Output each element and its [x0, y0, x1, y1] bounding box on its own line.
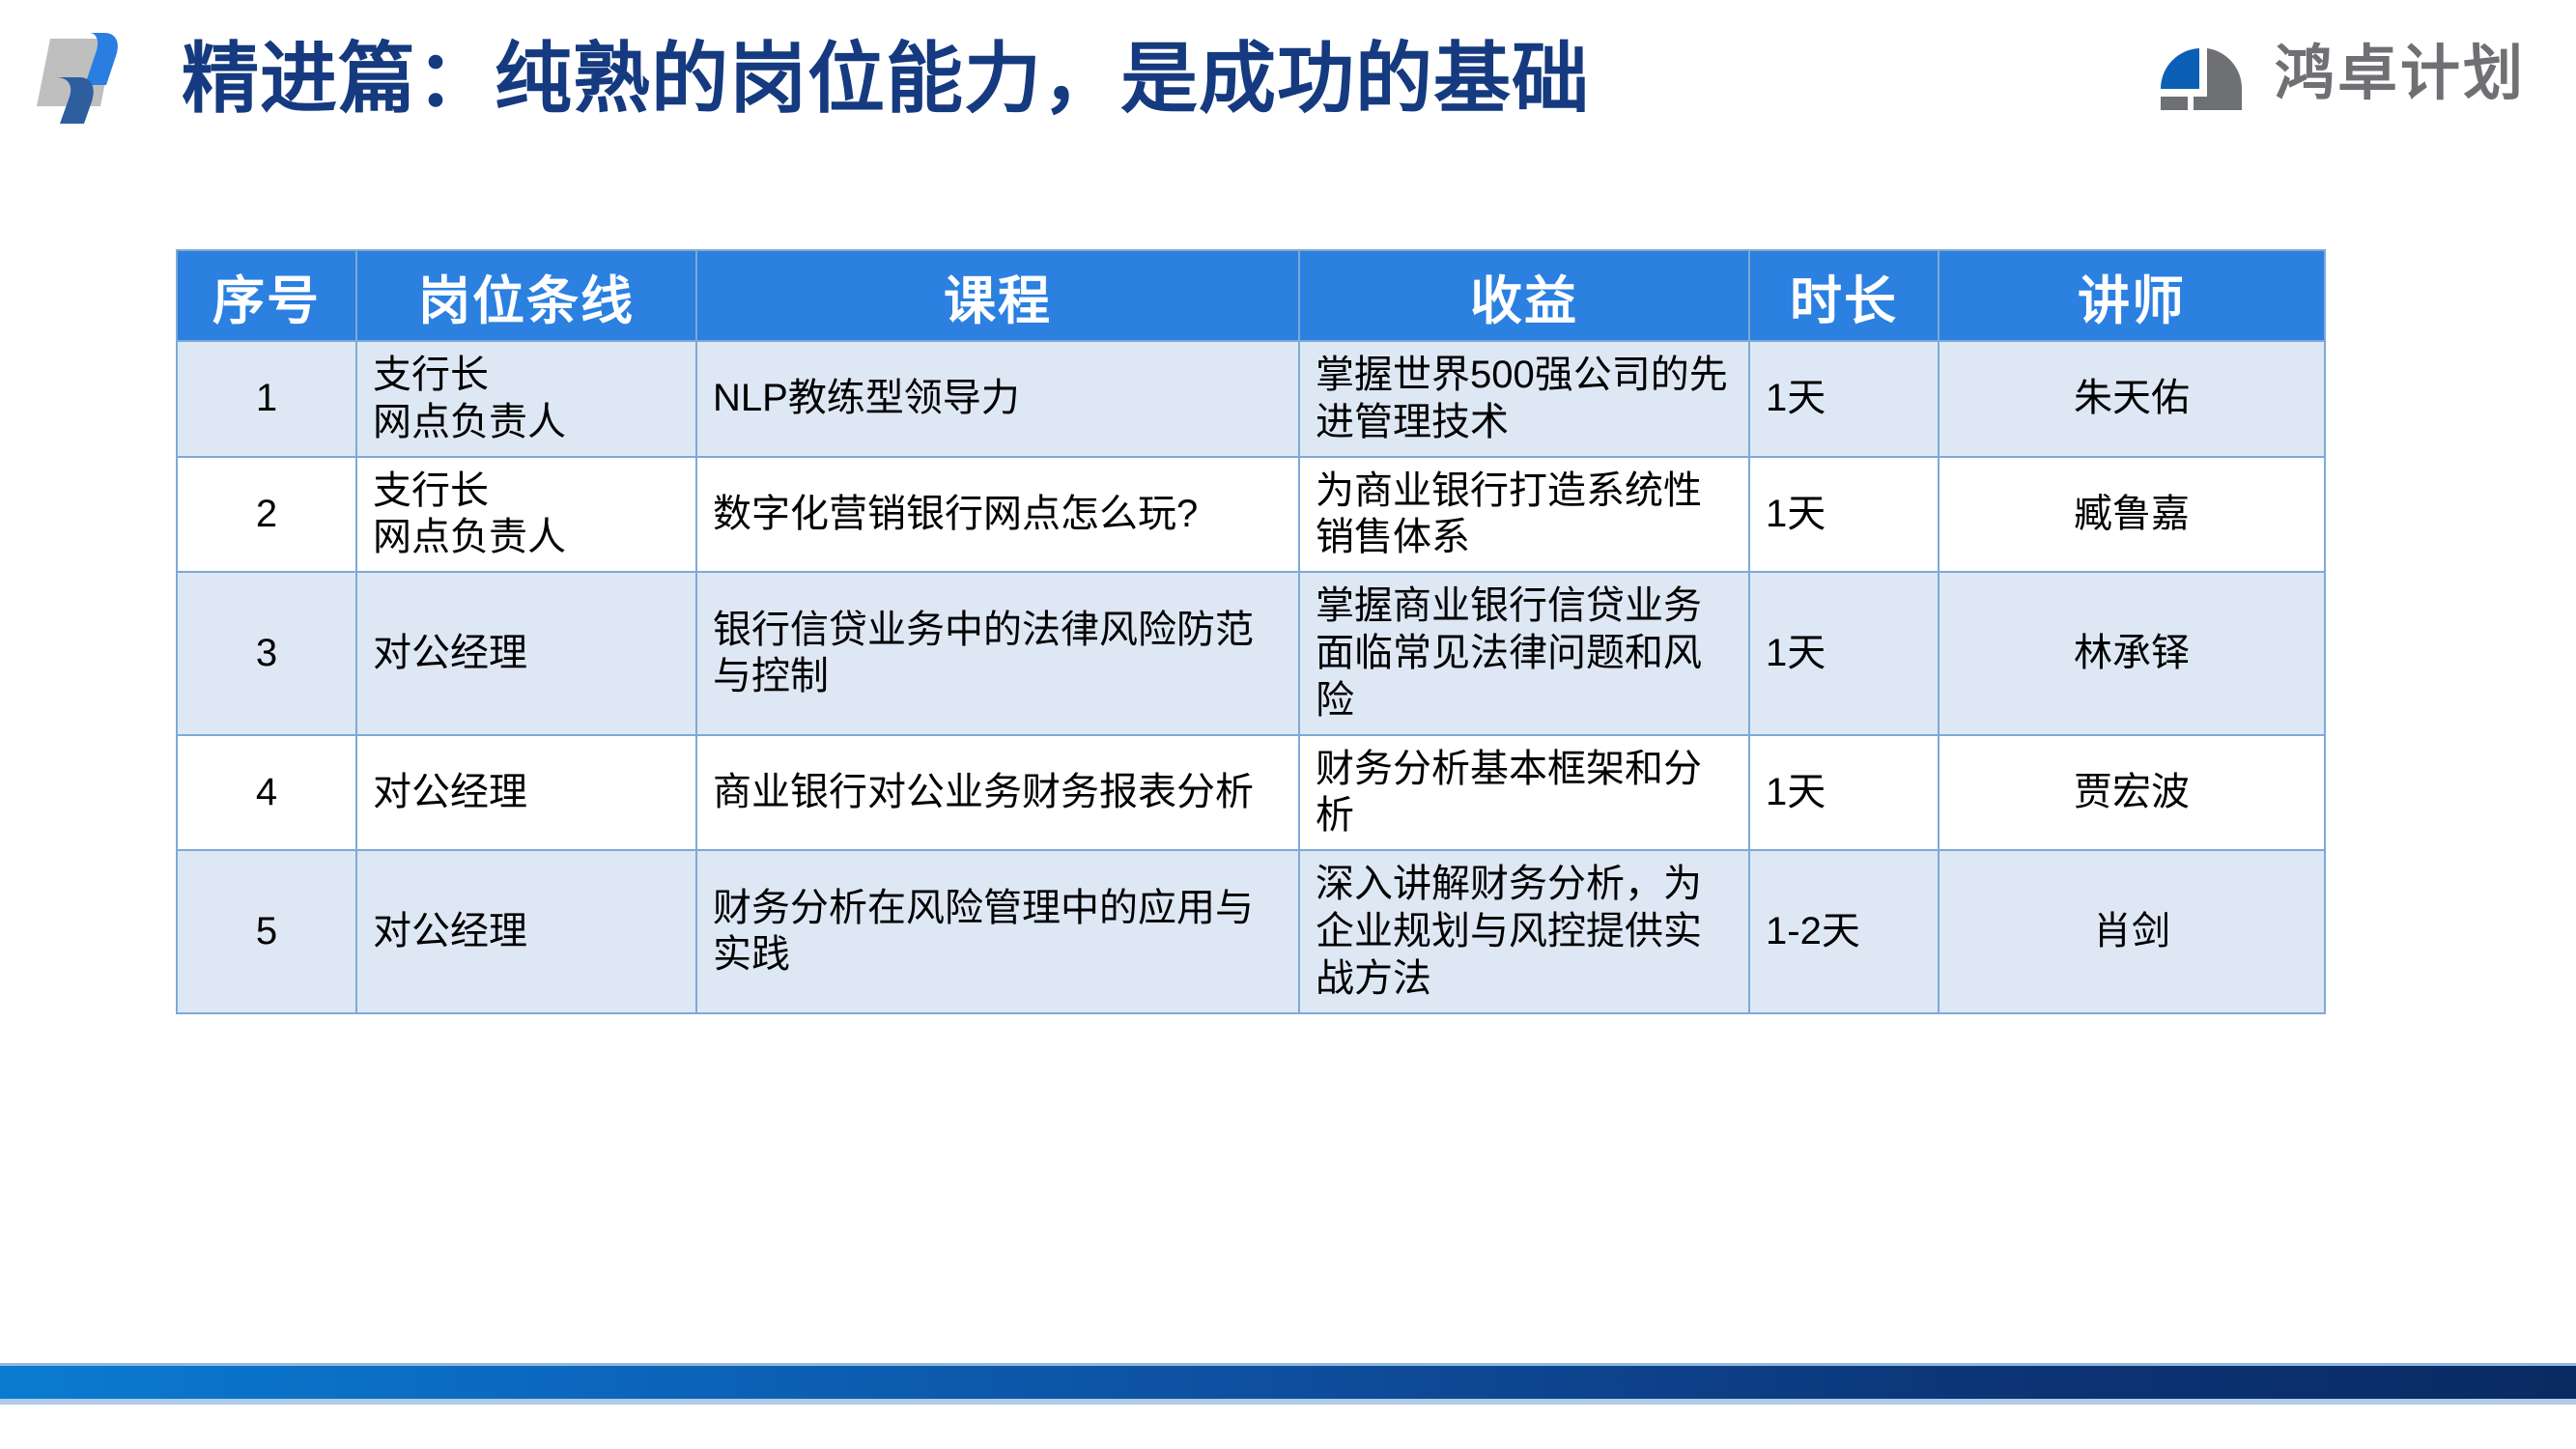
- program-logo: 鸿卓计划: [2157, 37, 2526, 112]
- cell-line: 支行长 网点负责人: [356, 457, 696, 573]
- footer-gradient-bar: [0, 1366, 2576, 1399]
- table-row: 2 支行长 网点负责人 数字化营销银行网点怎么玩? 为商业银行打造系统性销售体系…: [177, 457, 2325, 573]
- column-header-line: 岗位条线: [356, 250, 696, 341]
- cell-benefit: 财务分析基本框架和分析: [1299, 735, 1749, 851]
- cell-line: 对公经理: [356, 850, 696, 1012]
- cell-course: 数字化营销银行网点怎么玩?: [696, 457, 1299, 573]
- cell-duration: 1天: [1749, 735, 1939, 851]
- cell-duration: 1天: [1749, 341, 1939, 457]
- cell-duration: 1-2天: [1749, 850, 1939, 1012]
- cell-course: 商业银行对公业务财务报表分析: [696, 735, 1299, 851]
- cell-benefit: 掌握世界500强公司的先进管理技术: [1299, 341, 1749, 457]
- hongzhuo-semicircle-logo-icon: [2157, 39, 2246, 110]
- course-table-container: 序号 岗位条线 课程 收益 时长 讲师 1 支行长 网点负责人 NLP教练型领导…: [176, 249, 2324, 1014]
- cell-teacher: 林承铎: [1939, 572, 2325, 734]
- cell-index: 1: [177, 341, 356, 457]
- cell-benefit: 掌握商业银行信贷业务面临常见法律问题和风险: [1299, 572, 1749, 734]
- cell-teacher: 朱天佑: [1939, 341, 2325, 457]
- cell-line: 对公经理: [356, 735, 696, 851]
- cell-course: 银行信贷业务中的法律风险防范与控制: [696, 572, 1299, 734]
- slide-header: 精进篇：纯熟的岗位能力，是成功的基础 鸿卓计划: [0, 0, 2576, 184]
- footer-accent-line-bottom: [0, 1399, 2576, 1405]
- table-row: 3 对公经理 银行信贷业务中的法律风险防范与控制 掌握商业银行信贷业务面临常见法…: [177, 572, 2325, 734]
- cell-benefit: 为商业银行打造系统性销售体系: [1299, 457, 1749, 573]
- corner-ribbon-logo-icon: [29, 21, 150, 128]
- cell-benefit: 深入讲解财务分析，为企业规划与风控提供实战方法: [1299, 850, 1749, 1012]
- page-title: 精进篇：纯熟的岗位能力，是成功的基础: [182, 37, 1590, 122]
- cell-index: 5: [177, 850, 356, 1012]
- column-header-index: 序号: [177, 250, 356, 341]
- cell-index: 3: [177, 572, 356, 734]
- cell-course: NLP教练型领导力: [696, 341, 1299, 457]
- program-logo-text: 鸿卓计划: [2275, 44, 2526, 104]
- table-row: 1 支行长 网点负责人 NLP教练型领导力 掌握世界500强公司的先进管理技术 …: [177, 341, 2325, 457]
- cell-line: 对公经理: [356, 572, 696, 734]
- cell-duration: 1天: [1749, 457, 1939, 573]
- cell-index: 4: [177, 735, 356, 851]
- column-header-course: 课程: [696, 250, 1299, 341]
- cell-teacher: 肖剑: [1939, 850, 2325, 1012]
- table-row: 4 对公经理 商业银行对公业务财务报表分析 财务分析基本框架和分析 1天 贾宏波: [177, 735, 2325, 851]
- table-row: 5 对公经理 财务分析在风险管理中的应用与实践 深入讲解财务分析，为企业规划与风…: [177, 850, 2325, 1012]
- cell-index: 2: [177, 457, 356, 573]
- course-table: 序号 岗位条线 课程 收益 时长 讲师 1 支行长 网点负责人 NLP教练型领导…: [176, 249, 2326, 1014]
- cell-teacher: 贾宏波: [1939, 735, 2325, 851]
- table-header-row: 序号 岗位条线 课程 收益 时长 讲师: [177, 250, 2325, 341]
- cell-teacher: 臧鲁嘉: [1939, 457, 2325, 573]
- column-header-benefit: 收益: [1299, 250, 1749, 341]
- cell-course: 财务分析在风险管理中的应用与实践: [696, 850, 1299, 1012]
- column-header-teacher: 讲师: [1939, 250, 2325, 341]
- cell-line: 支行长 网点负责人: [356, 341, 696, 457]
- cell-duration: 1天: [1749, 572, 1939, 734]
- column-header-duration: 时长: [1749, 250, 1939, 341]
